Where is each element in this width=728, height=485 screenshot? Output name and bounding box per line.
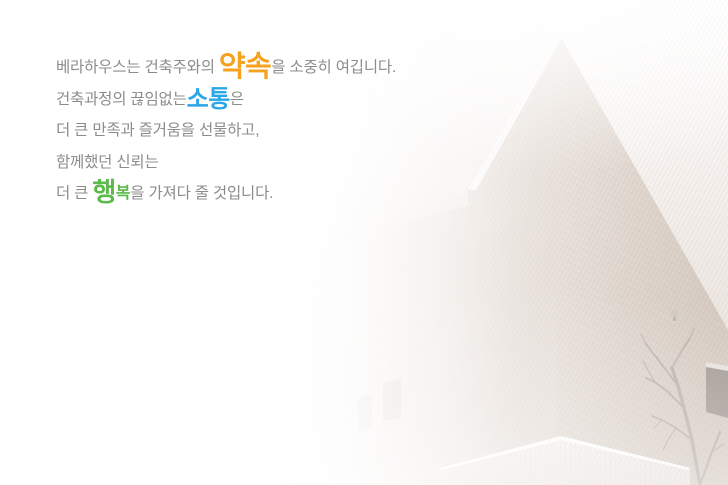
- copy-segment: 은: [230, 91, 244, 108]
- copy-segment: 더 큰 만족과 즐거움을 선물하고,: [56, 122, 259, 139]
- window-right-dark: [706, 362, 728, 418]
- copy-line-2: 건축과정의 끊임없는소통은: [56, 84, 486, 116]
- highlight-happiness-first: 행: [92, 177, 115, 207]
- highlight-happiness-second: 복: [116, 185, 131, 202]
- marketing-copy: 베라하우스는 건축주와의 약속을 소중히 여깁니다. 건축과정의 끊임없는소통은…: [56, 52, 486, 210]
- window-left-b: [383, 378, 401, 421]
- window-left-a: [358, 394, 372, 430]
- highlight-promise: 약속: [219, 51, 271, 83]
- copy-segment: 함께했던 신뢰는: [56, 154, 159, 171]
- copy-segment: 을 가져다 줄 것입니다.: [130, 185, 273, 202]
- copy-line-3: 더 큰 만족과 즐거움을 선물하고,: [56, 115, 486, 147]
- building-right-face: [558, 32, 728, 485]
- copy-line-5: 더 큰 행복을 가져다 줄 것입니다.: [56, 178, 486, 210]
- copy-segment: 건축과정의 끊임없는: [56, 91, 187, 108]
- copy-segment: 을 소중히 여깁니다.: [271, 59, 396, 76]
- copy-segment: 베라하우스는 건축주와의: [56, 59, 219, 76]
- highlight-communication: 소통: [187, 86, 230, 113]
- copy-line-4: 함께했던 신뢰는: [56, 147, 486, 179]
- copy-segment: 더 큰: [56, 185, 92, 202]
- hero-banner: 베라하우스는 건축주와의 약속을 소중히 여깁니다. 건축과정의 끊임없는소통은…: [0, 0, 728, 485]
- copy-line-1: 베라하우스는 건축주와의 약속을 소중히 여깁니다.: [56, 52, 486, 84]
